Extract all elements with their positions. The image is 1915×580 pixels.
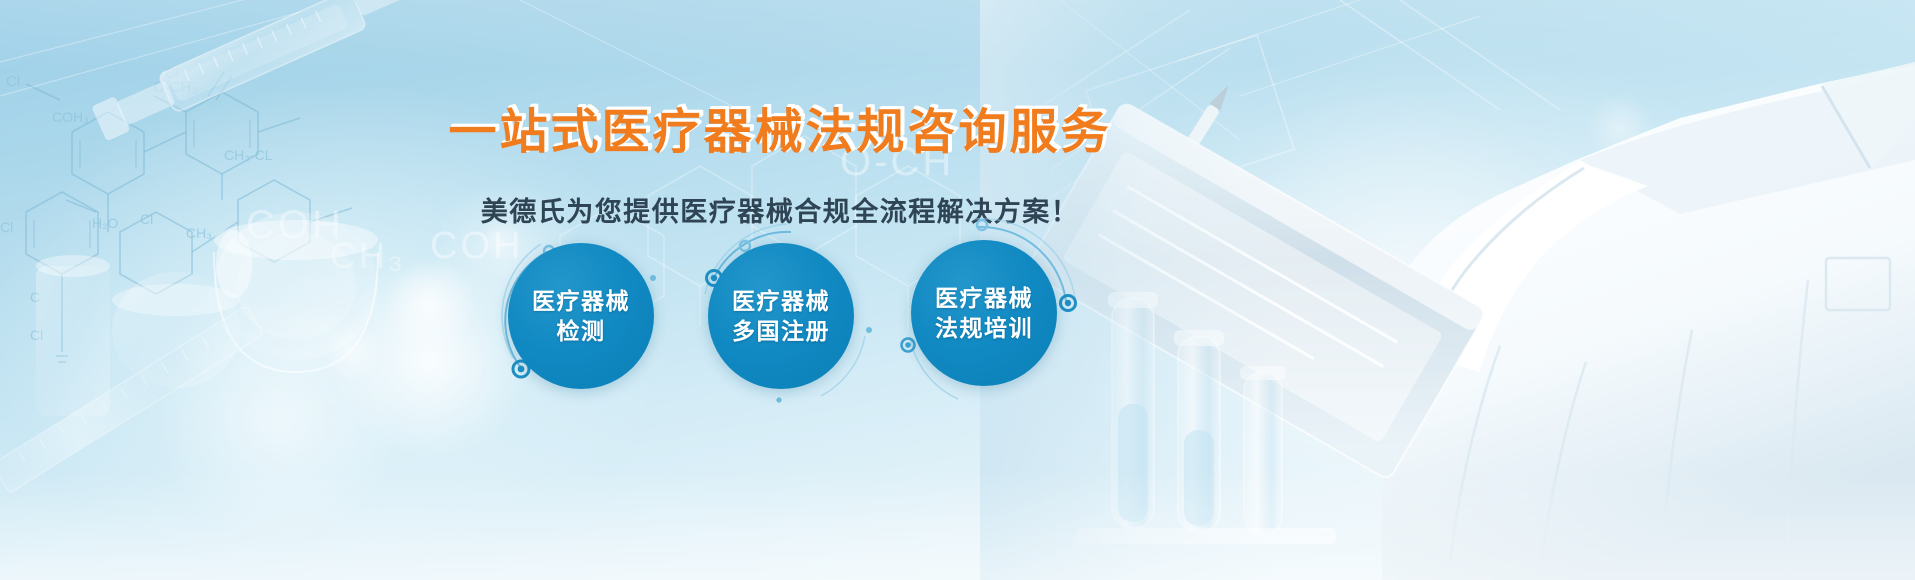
service-circle-body: 医疗器械 多国注册 — [708, 243, 854, 389]
service-label-line1: 医疗器械 — [935, 283, 1033, 313]
service-label-line2: 多国注册 — [732, 316, 830, 346]
service-label-line1: 医疗器械 — [732, 286, 830, 316]
service-circle-detection[interactable]: 医疗器械 检测 — [483, 218, 683, 418]
hero-banner: Cl Cl O-CH₃ COH₃ CH₃-CL H₂O Cl Cl C Cl C… — [0, 0, 1915, 580]
service-label-line2: 法规培训 — [935, 313, 1033, 343]
service-circle-training[interactable]: 医疗器械 法规培训 — [886, 215, 1086, 415]
service-label-line1: 医疗器械 — [532, 286, 630, 316]
service-circle-group: 医疗器械 检测 医疗器械 多国注册 — [0, 0, 1560, 580]
service-circle-registration[interactable]: 医疗器械 多国注册 — [683, 218, 883, 418]
service-circle-body: 医疗器械 检测 — [508, 243, 654, 389]
service-circle-body: 医疗器械 法规培训 — [911, 240, 1057, 386]
service-label-line2: 检测 — [557, 316, 606, 346]
